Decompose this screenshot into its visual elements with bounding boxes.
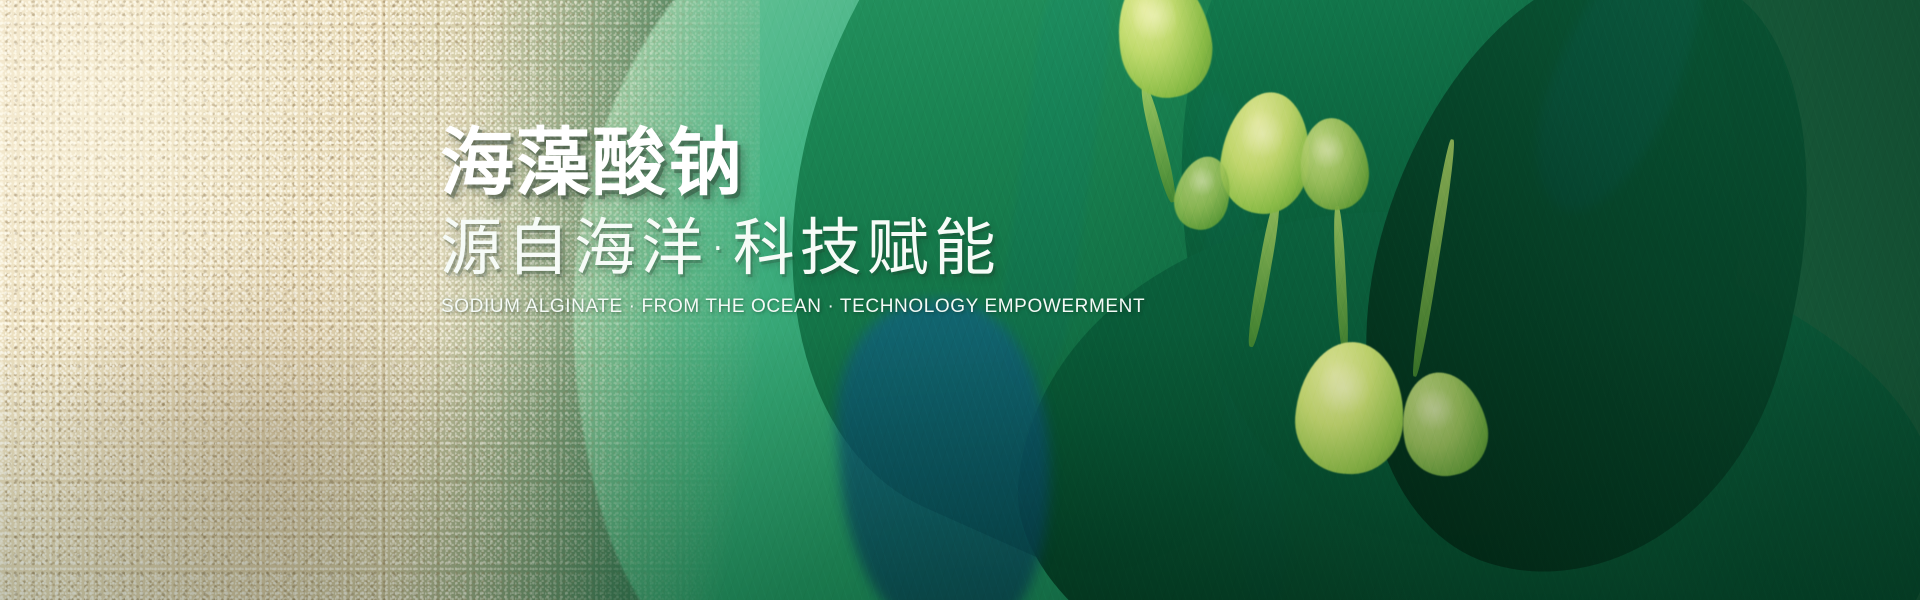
banner-headline: 海藻酸钠 [440,126,1200,200]
hero-banner: 海藻酸钠 源自海洋·科技赋能 SODIUM ALGINATE · FROM TH… [0,0,1920,600]
banner-subheadline: 源自海洋·科技赋能 [440,212,1200,284]
banner-tagline-english: SODIUM ALGINATE · FROM THE OCEAN · TECHN… [441,296,1200,318]
banner-copy: 海藻酸钠 源自海洋·科技赋能 SODIUM ALGINATE · FROM TH… [440,126,1200,318]
